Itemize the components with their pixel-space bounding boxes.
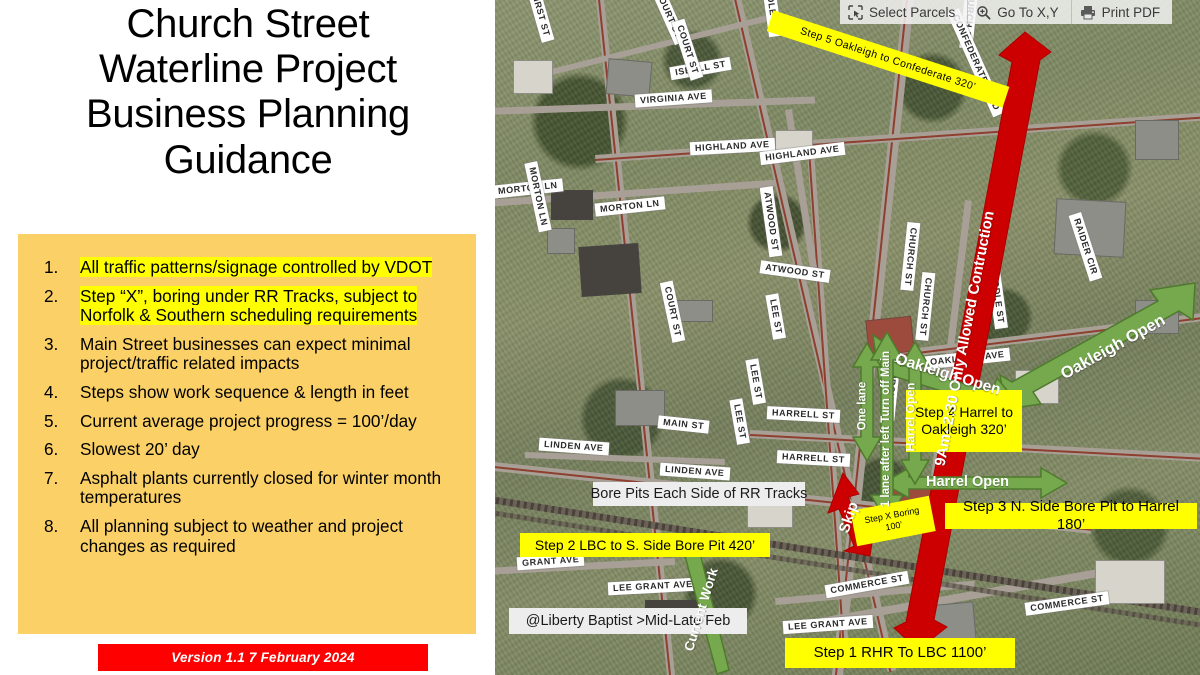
list-item: 4. Steps show work sequence & length in … xyxy=(32,383,462,403)
list-item-number: 5. xyxy=(44,412,72,432)
highlighted-text: All traffic patterns/signage controlled … xyxy=(80,257,432,277)
list-item: 3. Main Street businesses can expect min… xyxy=(32,335,462,374)
list-item: 5. Current average project progress = 10… xyxy=(32,412,462,432)
list-item-number: 7. xyxy=(44,469,72,489)
list-item: 6. Slowest 20’ day xyxy=(32,440,462,460)
highlighted-text: Step “X”, boring under RR Tracks, subjec… xyxy=(80,286,417,326)
callout-step-1: Step 1 RHR To LBC 1100’ xyxy=(785,638,1015,668)
title-line-4: Guidance xyxy=(8,138,488,183)
print-pdf-label: Print PDF xyxy=(1102,5,1161,20)
arrow-label-one-lane: One lane xyxy=(856,382,868,431)
arrow-label-harrel-open-horizontal: Harrel Open xyxy=(926,474,1009,490)
callout-step-4: Step 4 Harrel to Oakleigh 320’ xyxy=(906,390,1022,452)
select-parcels-button[interactable]: Select Parcels xyxy=(840,0,968,24)
list-item-text: Slowest 20’ day xyxy=(80,439,200,459)
list-item-text: Step “X”, boring under RR Tracks, subjec… xyxy=(80,286,417,326)
select-parcels-icon xyxy=(848,5,863,20)
callout-liberty-baptist: @Liberty Baptist >Mid-Late Feb xyxy=(509,608,747,634)
callout-step-3: Step 3 N. Side Bore Pit to Harrel 180’ xyxy=(945,503,1197,529)
version-banner: Version 1.1 7 February 2024 xyxy=(98,644,428,671)
guidance-card: 1. All traffic patterns/signage controll… xyxy=(18,234,476,634)
list-item-number: 6. xyxy=(44,440,72,460)
title-line-2: Waterline Project xyxy=(8,47,488,92)
map-toolbar[interactable]: Select Parcels Go To X,Y Pr xyxy=(840,0,1172,24)
go-to-xy-label: Go To X,Y xyxy=(997,5,1058,20)
list-item: 1. All traffic patterns/signage controll… xyxy=(32,258,462,278)
list-item-text: Main Street businesses can expect minima… xyxy=(80,334,411,374)
arrow-label-one-lane-after-main: 1 lane after left Turn off Main xyxy=(880,351,892,507)
list-item-number: 2. xyxy=(44,287,72,307)
list-item-number: 8. xyxy=(44,517,72,537)
title-line-3: Business Planning xyxy=(8,92,488,137)
list-item-text: All planning subject to weather and proj… xyxy=(80,516,403,556)
list-item-number: 1. xyxy=(44,258,72,278)
printer-icon xyxy=(1080,5,1096,20)
select-parcels-label: Select Parcels xyxy=(869,5,955,20)
list-item-text: Steps show work sequence & length in fee… xyxy=(80,382,409,402)
magnifier-icon xyxy=(976,5,991,20)
arrow-overlay xyxy=(495,0,1200,675)
list-item: 7. Asphalt plants currently closed for w… xyxy=(32,469,462,508)
print-pdf-button[interactable]: Print PDF xyxy=(1072,0,1173,24)
callout-step-2: Step 2 LBC to S. Side Bore Pit 420’ xyxy=(520,533,770,557)
list-item-number: 4. xyxy=(44,383,72,403)
list-item-text: All traffic patterns/signage controlled … xyxy=(80,257,432,277)
list-item-number: 3. xyxy=(44,335,72,355)
list-item: 2. Step “X”, boring under RR Tracks, sub… xyxy=(32,287,462,326)
list-item: 8. All planning subject to weather and p… xyxy=(32,517,462,556)
list-item-text: Asphalt plants currently closed for wint… xyxy=(80,468,441,508)
arrow-label-harrel-open-vertical: Harrel Open xyxy=(903,383,917,452)
guidance-list: 1. All traffic patterns/signage controll… xyxy=(18,234,476,556)
list-item-text: Current average project progress = 100’/… xyxy=(80,411,417,431)
aerial-map-panel[interactable]: FIRST ST COURT ST ISBELL ST HIGH ST VIRG… xyxy=(495,0,1200,675)
page-title: Church Street Waterline Project Business… xyxy=(8,2,488,183)
title-line-1: Church Street xyxy=(8,2,488,47)
go-to-xy-button[interactable]: Go To X,Y xyxy=(968,0,1071,24)
callout-bore-pits: Bore Pits Each Side of RR Tracks xyxy=(593,482,805,506)
slide-left-panel: Church Street Waterline Project Business… xyxy=(0,0,495,675)
